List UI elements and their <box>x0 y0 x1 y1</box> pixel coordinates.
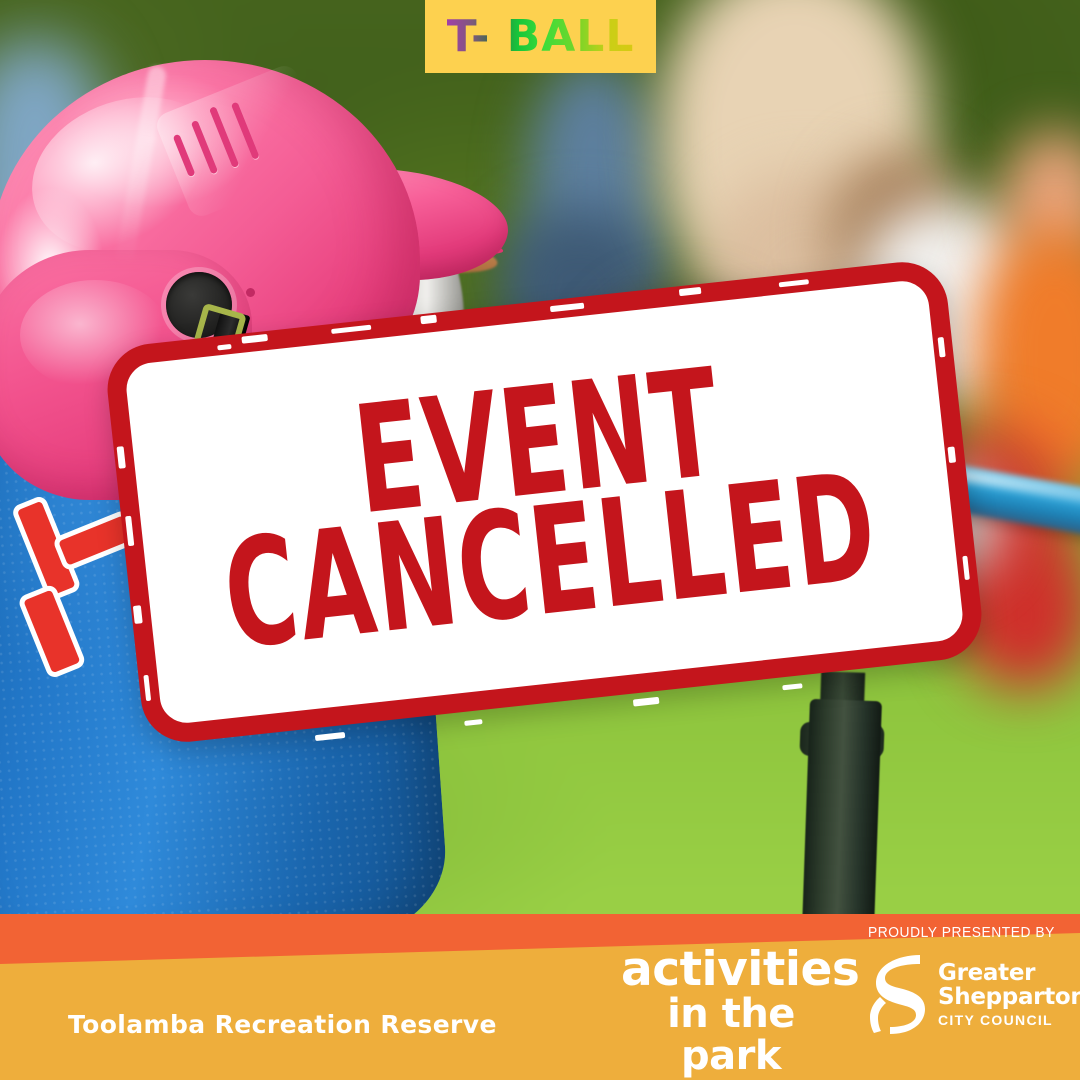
category-badge: T- BALL <box>425 0 656 73</box>
stamp-line-cancelled: CANCELLED <box>219 458 884 665</box>
activities-in-the-park-logo: activities in the park <box>621 948 841 1077</box>
category-badge-label: T- BALL <box>447 11 635 62</box>
presenter-name-line-3: CITY COUNCIL <box>938 1013 1080 1027</box>
batting-tee-post <box>802 699 882 931</box>
brand-line-2: in the park <box>621 993 841 1077</box>
presenter-block: PROUDLY PRESENTED BY Greater Shepparton … <box>868 924 1068 1035</box>
venue-name: Toolamba Recreation Reserve <box>68 1010 497 1039</box>
bottom-banner: Toolamba Recreation Reserve activities i… <box>0 914 1080 1080</box>
presenter-name: Greater Shepparton CITY COUNCIL <box>938 962 1080 1027</box>
presenter-name-line-1: Greater <box>938 962 1080 985</box>
greater-shepparton-s-logo-icon <box>868 953 926 1035</box>
helmet-rivet <box>246 288 255 297</box>
presenter-name-line-2: Shepparton <box>938 986 1080 1009</box>
event-cancelled-poster: T- BALL EVENT CANCELLED <box>0 0 1080 1080</box>
brand-line-1: activities <box>621 948 841 993</box>
presenter-kicker: PROUDLY PRESENTED BY <box>868 924 1052 941</box>
